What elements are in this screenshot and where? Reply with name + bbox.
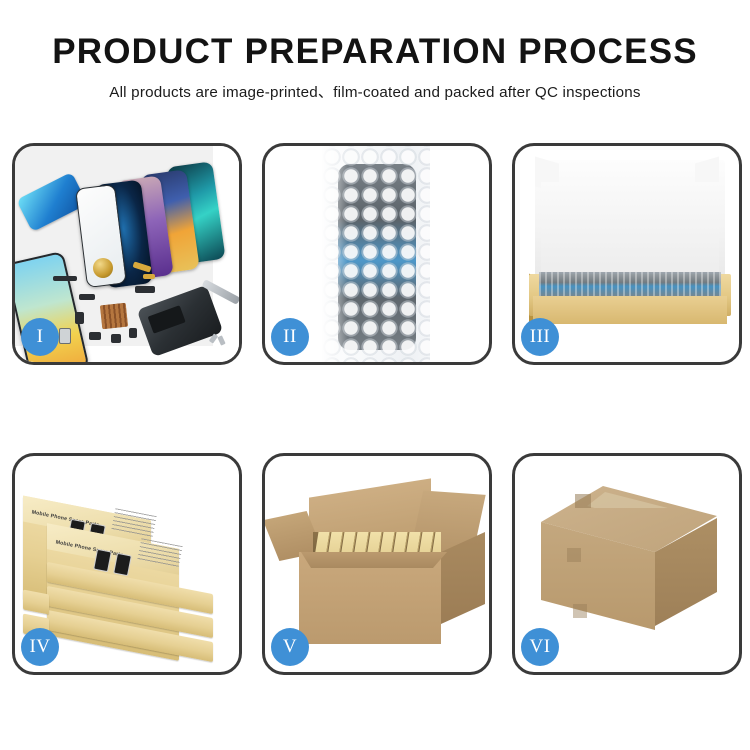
flex-cable-part — [53, 276, 77, 281]
step-badge-5: V — [271, 628, 309, 666]
sim-tray-part — [59, 328, 71, 344]
process-step-grid: I II III — [12, 143, 742, 675]
page-header: PRODUCT PREPARATION PROCESS All products… — [0, 0, 750, 102]
process-step-panel-1: I — [12, 143, 242, 365]
carton-seam — [575, 494, 591, 508]
small-part-10 — [143, 274, 155, 279]
inner-box-front — [533, 296, 727, 324]
page-subtitle: All products are image-printed、film-coat… — [0, 80, 750, 102]
process-step-panel-5: V — [262, 453, 492, 675]
copper-coil-part — [93, 258, 113, 278]
step-badge-4: IV — [21, 628, 59, 666]
retail-box-layer-6 — [23, 589, 49, 614]
process-step-panel-4: Mobile Phone Spare Parts Mobile Phone Sp… — [12, 453, 242, 675]
small-part-6 — [111, 334, 121, 343]
step-badge-2: II — [271, 318, 309, 356]
bubble-wrap-bag — [322, 146, 430, 362]
step-badge-3: III — [521, 318, 559, 356]
carton-hand-hole-top — [567, 548, 581, 562]
step-badge-1: I — [21, 318, 59, 356]
page-title: PRODUCT PREPARATION PROCESS — [0, 34, 750, 71]
small-part-4 — [75, 312, 84, 324]
small-part-7 — [129, 328, 137, 338]
small-part-5 — [89, 332, 101, 340]
foam-padding — [541, 182, 719, 274]
bag-highlight — [322, 146, 348, 362]
carton-flap-front — [301, 552, 447, 568]
small-part-8 — [135, 286, 155, 293]
step-badge-6: VI — [521, 628, 559, 666]
connector-grid-part — [100, 303, 128, 330]
packed-product — [539, 272, 721, 298]
carton-hand-hole-bottom — [573, 604, 587, 618]
process-step-panel-6: VI — [512, 453, 742, 675]
process-step-panel-3: III — [512, 143, 742, 365]
process-step-panel-2: II — [262, 143, 492, 365]
small-part-3 — [79, 294, 95, 300]
